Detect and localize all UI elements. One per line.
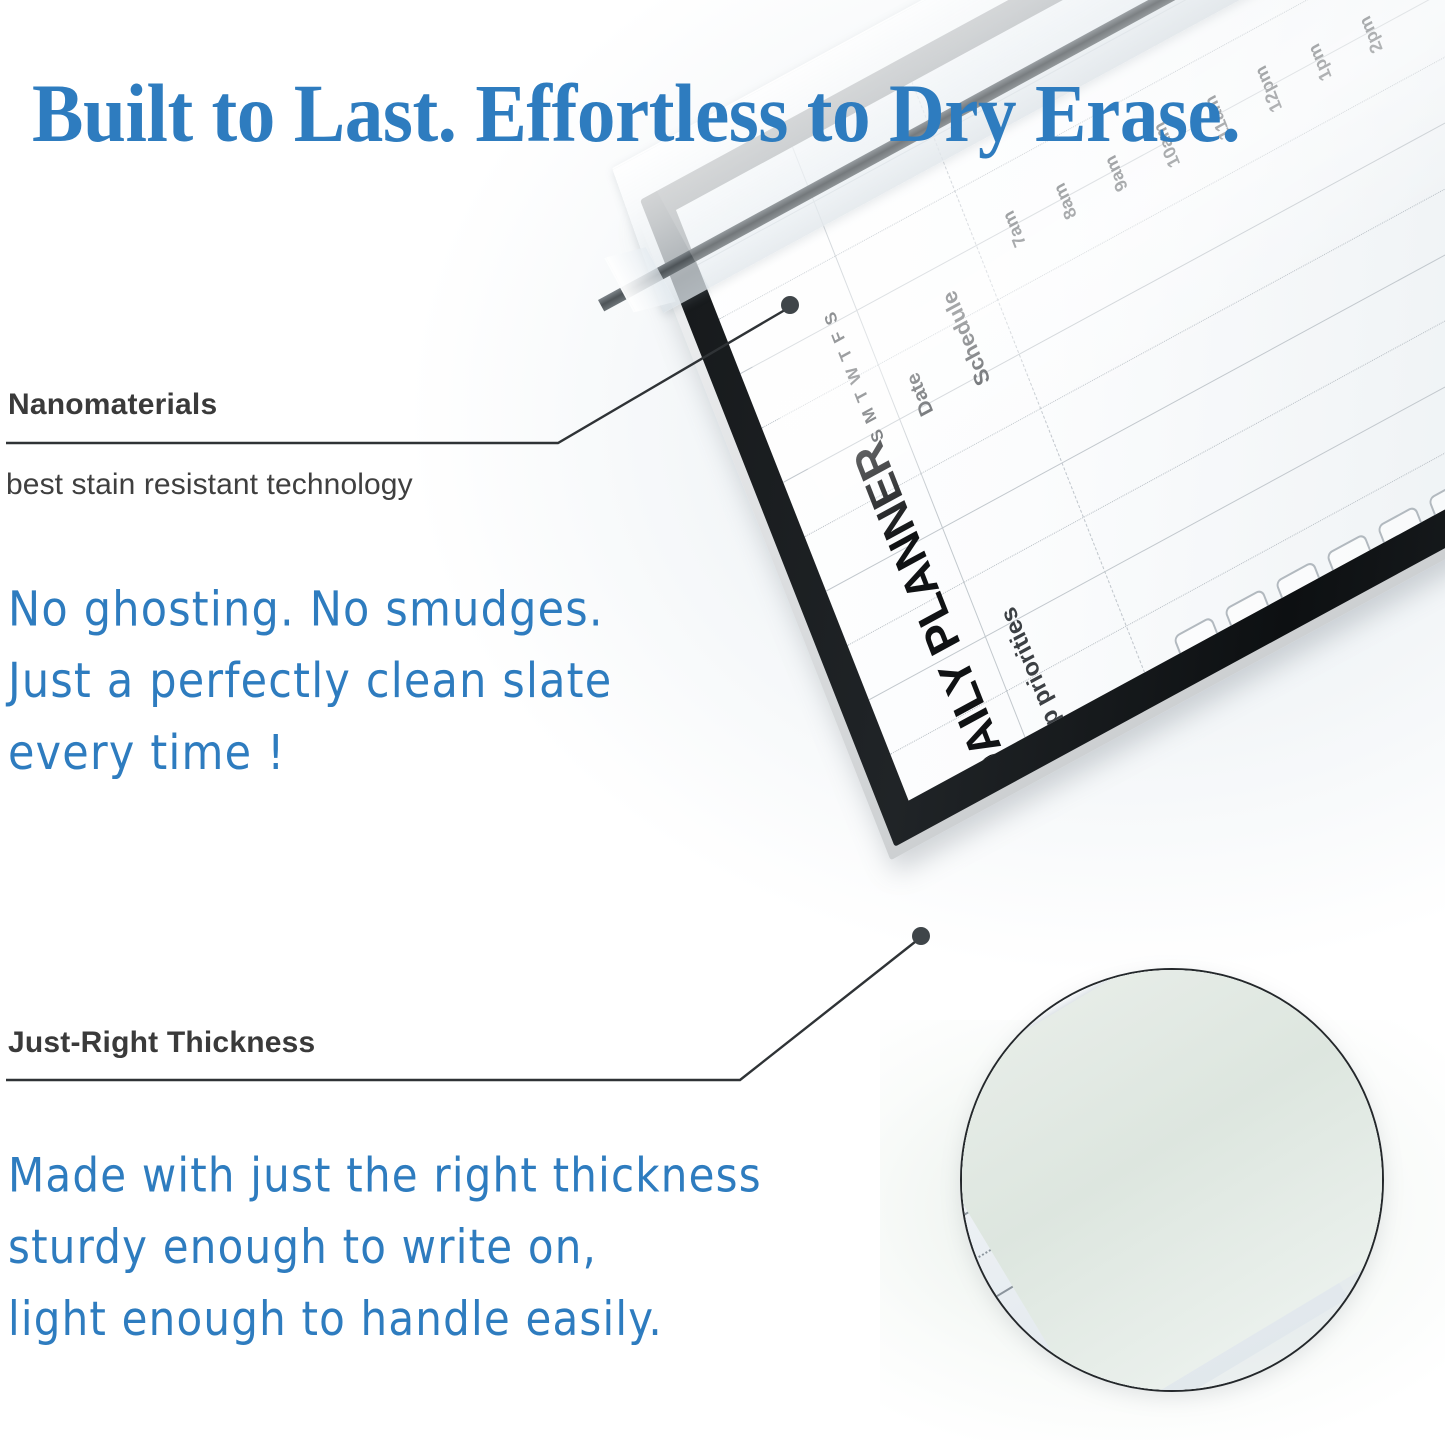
task-checkbox[interactable] (1326, 533, 1381, 595)
task-checkbox[interactable] (1275, 560, 1330, 622)
time-label: 2pm (1355, 12, 1387, 57)
callout-body-nanomaterials: No ghosting. No smudges. Just a perfectl… (8, 574, 612, 789)
board-column-separator (792, 147, 1026, 738)
callout-title-thickness: Just-Right Thickness (8, 1026, 315, 1060)
schedule-section-label: Schedule (937, 286, 996, 390)
callout-subtitle-nanomaterials: best stain resistant technology (6, 468, 413, 502)
callout-title-nanomaterials: Nanomaterials (8, 388, 217, 422)
task-checkbox[interactable] (1173, 616, 1228, 678)
status-legend: ✓Ok →Delay ✗Cancel (1119, 794, 1231, 801)
time-label: 7am (999, 207, 1031, 251)
cancel-label: Cancel (1119, 795, 1160, 801)
task-checkbox[interactable] (1427, 477, 1445, 539)
callout-body-thickness: Made with just the right thickness sturd… (8, 1140, 762, 1355)
task-checkbox[interactable] (1377, 505, 1432, 567)
thickness-detail-inset: SMTWTFS (960, 968, 1384, 1392)
task-checkbox[interactable] (1224, 588, 1279, 650)
day-of-week-strip: S M T W T F S (820, 306, 889, 445)
time-label: 8am (1050, 179, 1082, 223)
date-field-label: Date (903, 368, 939, 420)
page-headline: Built to Last. Effortless to Dry Erase. (32, 72, 1315, 155)
